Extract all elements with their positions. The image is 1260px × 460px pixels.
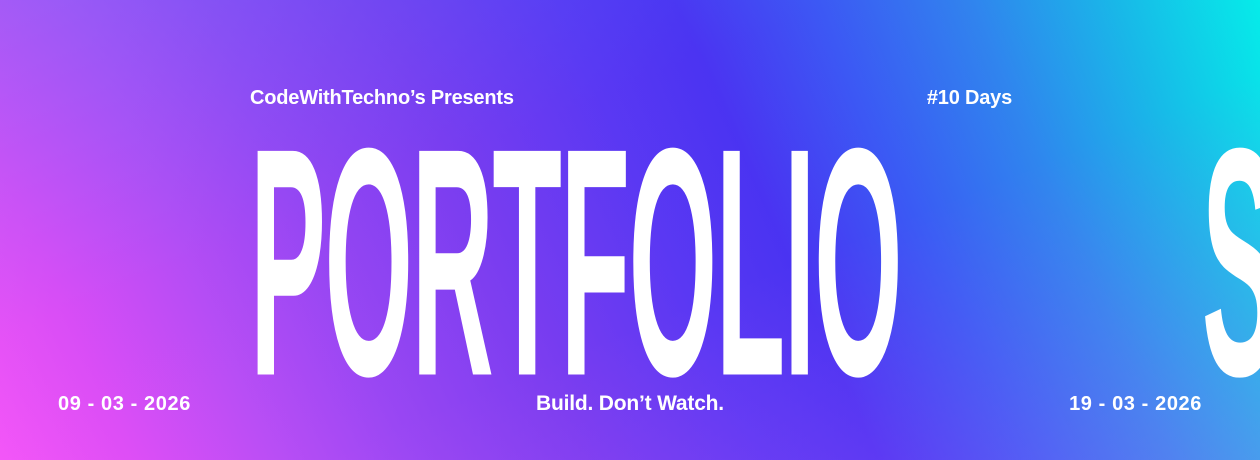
banner-content: CodeWithTechno’s Presents #10 Days PORTF… — [0, 0, 1260, 460]
end-date: 19 - 03 - 2026 — [1069, 394, 1202, 414]
headline-word-portfolio: PORTFOLIO — [250, 108, 901, 417]
headline-word-1-slot: PORTFOLIO — [250, 108, 690, 346]
headline: PORTFOLIO SPRINT — [250, 108, 1012, 356]
promo-banner: CodeWithTechno’s Presents #10 Days PORTF… — [0, 0, 1260, 460]
headline-word-sprint: SPRINT — [1202, 108, 1260, 417]
duration-badge: #10 Days — [927, 88, 1012, 108]
